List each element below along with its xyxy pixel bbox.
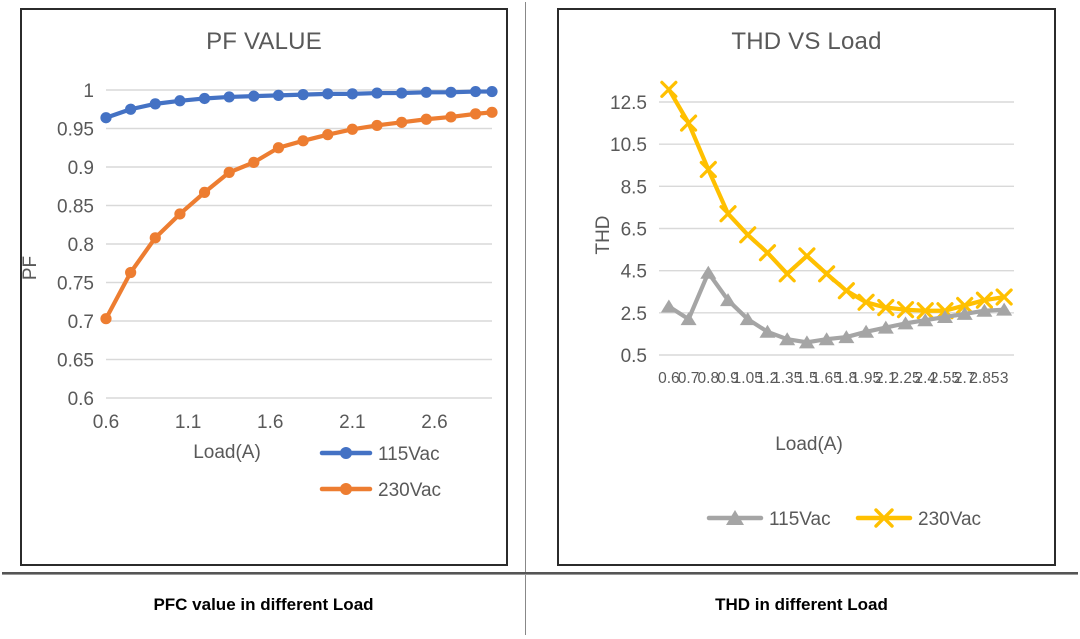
x-tick-label: 0.6 (93, 412, 119, 433)
x-tick-label: 2.1 (339, 412, 365, 433)
y-tick-label: 0.8 (68, 235, 94, 256)
data-point (396, 87, 407, 98)
y-tick-label: 10.5 (610, 135, 647, 156)
data-point-triangle (661, 300, 677, 313)
y-tick-label: 0.5 (621, 346, 647, 367)
figure-table: PF VALUE 0.60.650.70.750.80.850.90.951 0… (2, 2, 1078, 637)
data-point (174, 208, 185, 219)
data-point (298, 89, 309, 100)
data-point (199, 187, 210, 198)
data-point (486, 86, 497, 97)
legend-label: 115Vac (378, 444, 440, 465)
chart-cell-thd: THD VS Load 0.52.54.56.58.510.512.5 0.60… (526, 2, 1077, 572)
data-point-x (741, 228, 755, 242)
y-tick-label: 0.85 (57, 197, 94, 218)
data-point-x (839, 284, 853, 298)
data-point (421, 87, 432, 98)
data-point (421, 114, 432, 125)
data-point (100, 112, 111, 123)
data-point (125, 267, 136, 278)
pf-y-tick-labels: 0.60.650.70.750.80.850.90.951 (57, 81, 94, 410)
data-point (273, 90, 284, 101)
thd-legend: 115Vac230Vac (709, 509, 981, 530)
data-point (347, 88, 358, 99)
y-tick-label: 1 (83, 81, 94, 102)
data-point (224, 91, 235, 102)
y-tick-label: 0.95 (57, 120, 94, 141)
y-tick-label: 6.5 (621, 220, 647, 241)
x-tick-label: 1.6 (257, 412, 283, 433)
x-tick-label: 2.6 (421, 412, 447, 433)
data-point-x (800, 249, 814, 263)
y-tick-label: 4.5 (621, 262, 647, 283)
data-point (322, 88, 333, 99)
y-tick-label: 0.9 (68, 158, 94, 179)
y-tick-label: 2.5 (621, 304, 647, 325)
data-point-x (820, 267, 834, 281)
pf-y-axis-label: PF (22, 256, 41, 280)
thd-x-axis-label: Load(A) (775, 434, 843, 455)
data-point (371, 120, 382, 131)
thd-series-group (661, 82, 1012, 348)
pf-gridlines (106, 90, 492, 398)
data-point-triangle (700, 266, 716, 279)
legend-marker (340, 447, 352, 459)
chart-cell-pf: PF VALUE 0.60.650.70.750.80.850.90.951 0… (2, 2, 526, 572)
caption-pf: PFC value in different Load (2, 575, 526, 635)
y-tick-label: 0.6 (68, 389, 94, 410)
x-tick-label: 3 (1000, 370, 1009, 387)
data-point (174, 95, 185, 106)
y-tick-label: 8.5 (621, 177, 647, 198)
data-point (322, 129, 333, 140)
thd-chart-plot: 0.52.54.56.58.510.512.5 0.60.70.80.91.05… (559, 10, 1054, 564)
pf-chart-plot: 0.60.650.70.750.80.850.90.951 0.61.11.62… (22, 10, 506, 564)
series-line-230Vac (669, 89, 1004, 310)
pf-x-axis-label: Load(A) (193, 442, 261, 463)
y-tick-label: 12.5 (610, 93, 647, 114)
data-point (445, 87, 456, 98)
data-point (224, 167, 235, 178)
data-point (150, 98, 161, 109)
pf-x-tick-labels: 0.61.11.62.12.6 (93, 412, 448, 433)
legend-label: 115Vac (769, 509, 831, 530)
y-tick-label: 0.7 (68, 312, 94, 333)
y-tick-label: 0.65 (57, 351, 94, 372)
data-point (445, 111, 456, 122)
data-point (273, 142, 284, 153)
data-point (150, 232, 161, 243)
thd-x-tick-labels: 0.60.70.80.91.051.21.351.51.651.81.952.1… (658, 370, 1008, 387)
data-point (470, 86, 481, 97)
thd-chart-frame: THD VS Load 0.52.54.56.58.510.512.5 0.60… (557, 8, 1056, 566)
data-point (100, 313, 111, 324)
thd-y-axis-label: THD (593, 215, 614, 254)
data-point (199, 93, 210, 104)
legend-label: 230Vac (378, 480, 441, 501)
thd-y-tick-labels: 0.52.54.56.58.510.512.5 (610, 93, 647, 367)
pf-legend: 115Vac230Vac (322, 444, 441, 501)
legend-label: 230Vac (918, 509, 981, 530)
data-point (371, 87, 382, 98)
data-point (347, 124, 358, 135)
screenshot-root: PF VALUE 0.60.650.70.750.80.850.90.951 0… (0, 0, 1080, 639)
data-point-x (760, 246, 774, 260)
caption-thd: THD in different Load (526, 575, 1077, 635)
x-tick-label: 0.8 (698, 370, 720, 387)
pf-chart-frame: PF VALUE 0.60.650.70.750.80.850.90.951 0… (20, 8, 508, 566)
x-tick-label: 0.7 (678, 370, 700, 387)
captions-row: PFC value in different Load THD in diffe… (2, 574, 1078, 635)
charts-row: PF VALUE 0.60.650.70.750.80.850.90.951 0… (2, 2, 1078, 574)
data-point (298, 135, 309, 146)
data-point (486, 107, 497, 118)
data-point-x (662, 82, 676, 96)
data-point (396, 117, 407, 128)
legend-marker (340, 483, 352, 495)
data-point-x (780, 267, 794, 281)
data-point (125, 104, 136, 115)
data-point (470, 108, 481, 119)
y-tick-label: 0.75 (57, 274, 94, 295)
x-tick-label: 1.1 (175, 412, 201, 433)
data-point (248, 91, 259, 102)
data-point (248, 157, 259, 168)
x-tick-label: 2.85 (969, 370, 999, 387)
x-tick-label: 0.6 (658, 370, 680, 387)
